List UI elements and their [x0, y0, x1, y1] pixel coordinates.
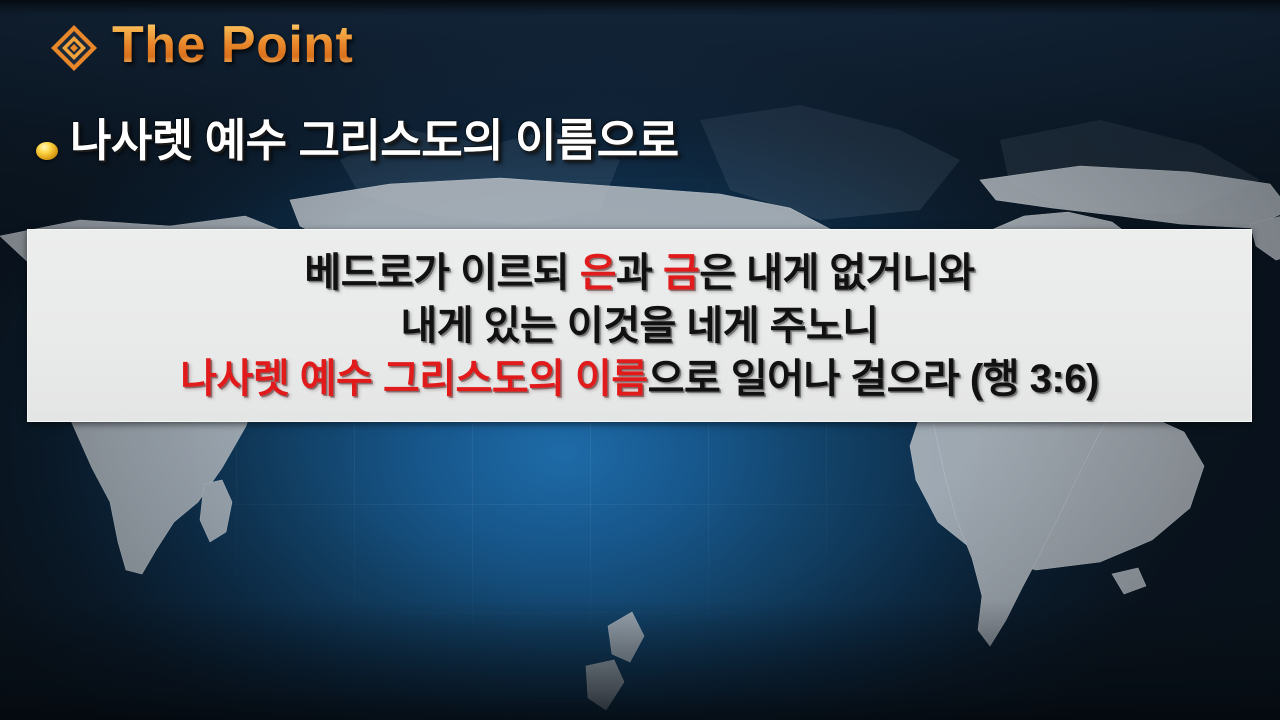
verse-segment: 과	[616, 251, 663, 295]
verse-segment-highlight: 금	[663, 251, 699, 295]
presentation-slide: The Point 나사렛 예수 그리스도의 이름으로 베드로가 이르되 은과 …	[0, 0, 1280, 720]
diamond-icon	[50, 24, 98, 72]
slide-header: The Point	[50, 18, 353, 72]
slide-subtitle: 나사렛 예수 그리스도의 이름으로	[36, 114, 679, 167]
background-top-band	[0, 0, 1280, 16]
verse-line-1: 베드로가 이르되 은과 금은 내게 없거니와	[304, 247, 974, 300]
verse-segment: 베드로가 이르되	[304, 251, 579, 295]
subtitle-label: 나사렛 예수 그리스도의 이름으로	[70, 114, 679, 167]
gold-bullet-icon	[36, 142, 58, 160]
verse-segment-highlight: 은	[580, 251, 616, 295]
page-title: The Point	[112, 19, 353, 71]
verse-segment: 은 내게 없거니와	[699, 251, 974, 295]
background-bottom-fade	[0, 600, 1280, 720]
verse-segment: 으로 일어나 걸으라 (행 3:6)	[648, 357, 1099, 401]
verse-segment-highlight: 나사렛 예수 그리스도의 이름	[180, 357, 647, 401]
verse-panel: 베드로가 이르되 은과 금은 내게 없거니와 내게 있는 이것을 네게 주노니 …	[27, 229, 1252, 422]
verse-segment: 내게 있는 이것을 네게 주노니	[400, 304, 878, 348]
verse-line-3: 나사렛 예수 그리스도의 이름으로 일어나 걸으라 (행 3:6)	[180, 353, 1099, 406]
verse-line-2: 내게 있는 이것을 네게 주노니	[400, 300, 878, 353]
